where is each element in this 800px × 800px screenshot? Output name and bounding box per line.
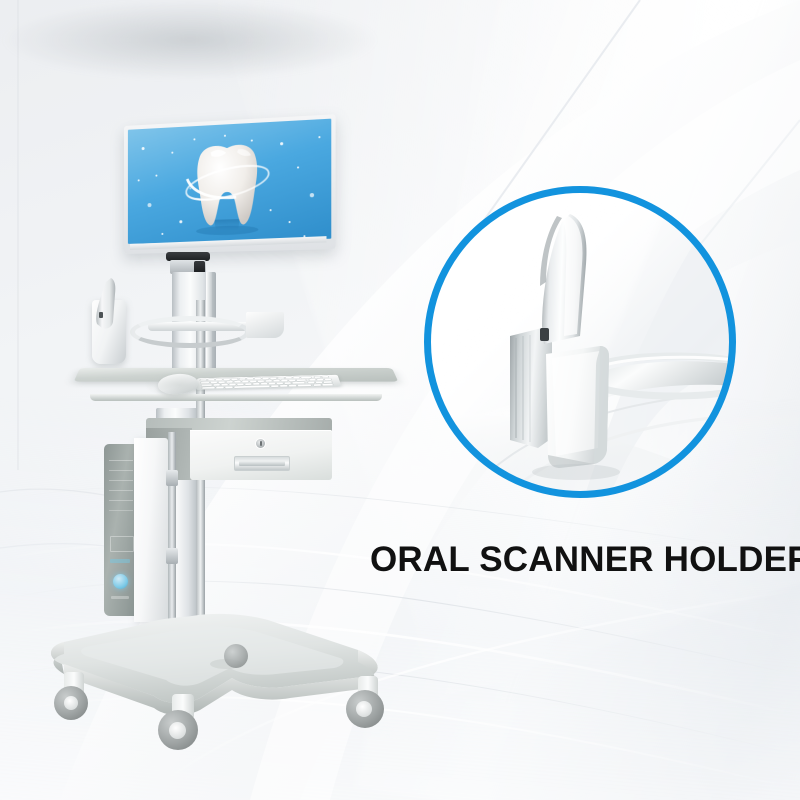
tooth-icon — [128, 119, 331, 244]
cart-floor-shadow — [0, 0, 380, 80]
power-button[interactable] — [113, 574, 128, 589]
hinge-knuckle — [166, 548, 178, 564]
drawer-front[interactable] — [190, 430, 332, 480]
monitor — [124, 126, 330, 254]
circular-detail-inset — [424, 186, 736, 498]
intraoral-scanner-wand — [93, 278, 119, 330]
product-banner: ORAL SCANNER HOLDER — [0, 0, 800, 800]
caster — [344, 676, 394, 728]
caster — [52, 672, 98, 720]
ring-tray-arm — [118, 310, 284, 352]
drawer-handle[interactable] — [234, 456, 290, 471]
drawer-lock-icon[interactable] — [256, 439, 265, 448]
caster — [156, 694, 210, 750]
holder-ring — [130, 316, 250, 348]
cart-assembly — [0, 0, 460, 800]
monitor-screen — [128, 119, 331, 244]
hinge-knuckle — [166, 470, 178, 486]
inset-artwork — [424, 186, 736, 498]
pc-tower — [104, 438, 168, 622]
caster — [222, 636, 256, 670]
mousepad-area — [144, 372, 216, 398]
tower-hinge-rail — [168, 432, 176, 622]
work-surface — [80, 368, 392, 412]
page-title: ORAL SCANNER HOLDER — [370, 540, 800, 580]
